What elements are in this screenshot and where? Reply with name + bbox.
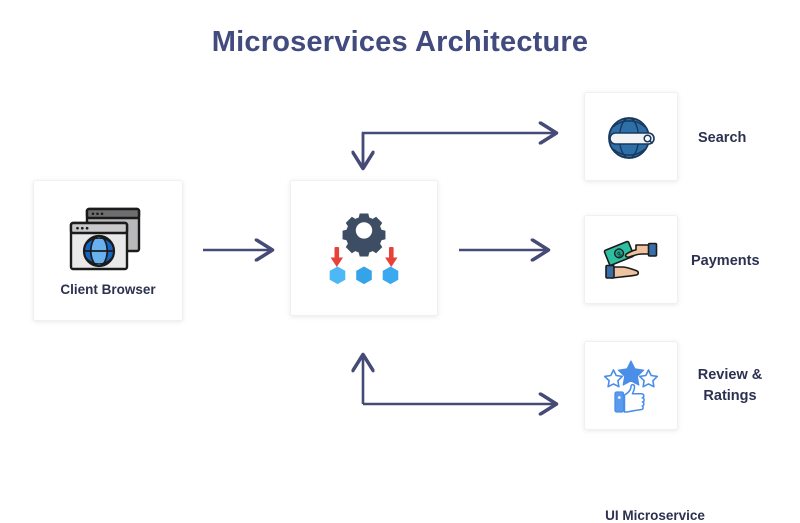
hexagon-left: [330, 267, 346, 285]
node-label-ui-microservice: UI Microservice: [581, 508, 729, 523]
gear-arrows-hexagons-icon: [323, 209, 405, 289]
hexagon-center: [356, 267, 372, 285]
node-label-review-ratings-line2: Ratings: [692, 386, 768, 407]
diagram-canvas: Microservices Architecture: [0, 0, 800, 466]
connector-ui-microservice-to-review-ratings: [363, 355, 556, 404]
node-search[interactable]: [584, 92, 678, 181]
node-label-review-ratings: Review & Ratings: [692, 365, 768, 407]
thumbs-up-stars-icon: [604, 361, 658, 413]
node-payments[interactable]: $: [584, 215, 678, 304]
node-label-search: Search: [698, 128, 746, 149]
node-label-review-ratings-line1: Review &: [692, 365, 768, 386]
hexagon-right: [383, 267, 399, 285]
globe-search-bar-icon: [602, 115, 660, 161]
node-label-client-browser: Client Browser: [34, 282, 182, 297]
hands-exchanging-money-icon: $: [603, 236, 659, 286]
browser-windows-globe-icon: [65, 207, 151, 275]
red-down-arrow-right: [385, 247, 397, 267]
node-client-browser[interactable]: Client Browser: [33, 180, 183, 321]
node-label-payments: Payments: [691, 251, 760, 272]
connector-search-to-ui-microservice: [363, 133, 556, 168]
red-down-arrow-left: [331, 247, 343, 267]
node-ui-microservice[interactable]: UI Microservice: [290, 180, 438, 316]
node-review-ratings[interactable]: [584, 341, 678, 430]
